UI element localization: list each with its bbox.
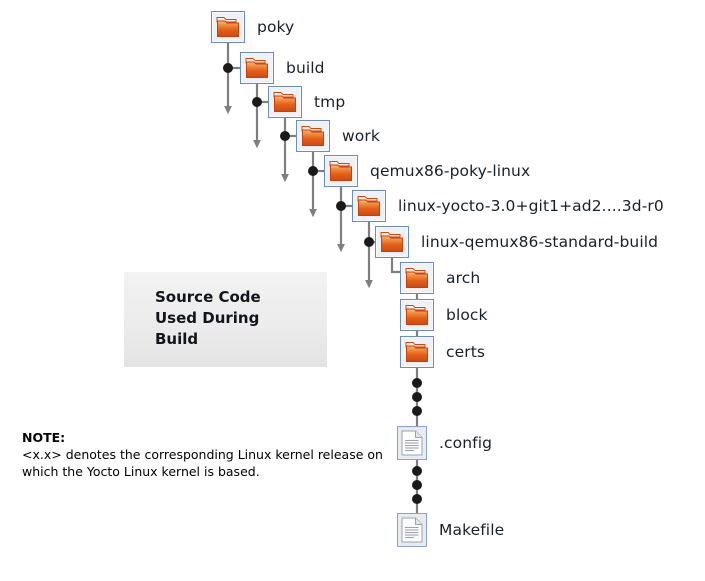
folder-icon: [400, 299, 434, 331]
tree-node-config-file[interactable]: .config: [397, 426, 492, 460]
tree-node-build[interactable]: build: [240, 52, 325, 84]
folder-icon: [375, 226, 409, 258]
tree-node-label: qemux86-poky-linux: [370, 162, 530, 180]
tree-node-linux-yocto[interactable]: linux-yocto-3.0+git1+ad2....3d-r0: [352, 190, 664, 222]
ellipsis-dots-lower: [412, 466, 422, 504]
tree-node-poky[interactable]: poky: [211, 11, 294, 43]
tree-node-arch[interactable]: arch: [400, 262, 480, 294]
tree-node-label: certs: [446, 343, 485, 361]
tree-node-label: tmp: [314, 93, 345, 111]
tree-node-label: linux-yocto-3.0+git1+ad2....3d-r0: [398, 197, 664, 215]
tree-node-qemux86-poky-linux[interactable]: qemux86-poky-linux: [324, 155, 530, 187]
folder-icon: [324, 155, 358, 187]
file-icon: [397, 426, 427, 460]
tree-node-label: build: [286, 59, 325, 77]
tree-node-makefile[interactable]: Makefile: [397, 513, 504, 547]
tree-node-label: arch: [446, 269, 480, 287]
tree-node-tmp[interactable]: tmp: [268, 86, 345, 118]
tree-node-work[interactable]: work: [296, 120, 380, 152]
folder-icon: [268, 86, 302, 118]
tree-node-label: .config: [439, 434, 492, 452]
folder-icon: [400, 262, 434, 294]
connector-lines: [0, 0, 705, 581]
ellipsis-dots-upper: [412, 378, 422, 416]
note-block: NOTE: <x.x> denotes the corresponding Li…: [22, 430, 392, 480]
folder-icon: [400, 336, 434, 368]
file-icon: [397, 513, 427, 547]
tree-node-label: poky: [257, 18, 294, 36]
folder-icon: [211, 11, 245, 43]
callout-text: Source Code Used During Build: [155, 287, 261, 350]
tree-node-label: linux-qemux86-standard-build: [421, 233, 658, 251]
tree-node-label: Makefile: [439, 521, 504, 539]
tree-node-linux-qemux86-standard-build[interactable]: linux-qemux86-standard-build: [375, 226, 658, 258]
source-code-callout: Source Code Used During Build: [124, 272, 327, 367]
tree-node-certs[interactable]: certs: [400, 336, 485, 368]
tree-node-label: block: [446, 306, 488, 324]
folder-icon: [296, 120, 330, 152]
tree-node-label: work: [342, 127, 380, 145]
folder-icon: [240, 52, 274, 84]
folder-icon: [352, 190, 386, 222]
note-title: NOTE:: [22, 430, 392, 446]
diagram-canvas: poky build tmp work: [0, 0, 705, 581]
note-body: <x.x> denotes the corresponding Linux ke…: [22, 446, 392, 480]
tree-node-block[interactable]: block: [400, 299, 488, 331]
